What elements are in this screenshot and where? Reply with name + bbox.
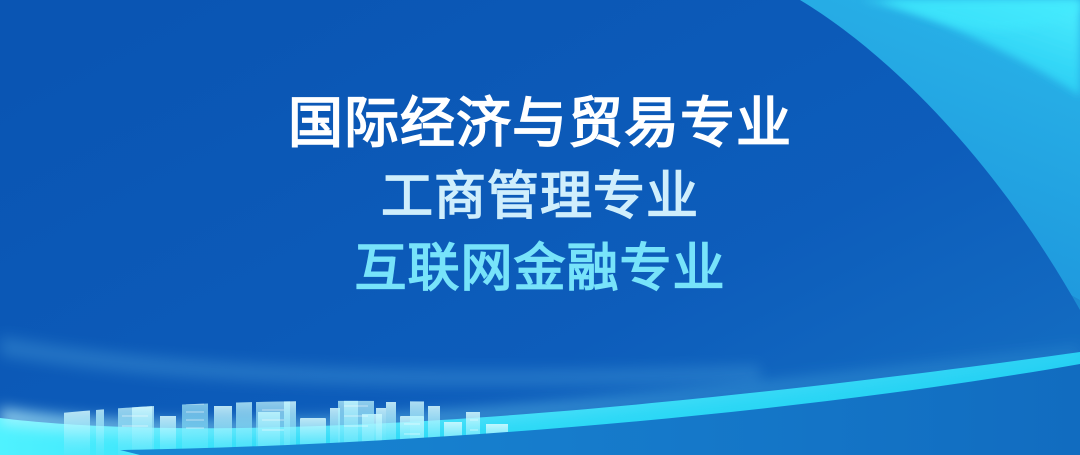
promo-banner: 国际经济与贸易专业 工商管理专业 互联网金融专业: [0, 0, 1080, 455]
title-line-international-trade: 国际经济与贸易专业: [288, 96, 792, 151]
title-line-business-administration: 工商管理专业: [381, 171, 699, 223]
title-line-internet-finance: 互联网金融专业: [354, 243, 725, 295]
title-block: 国际经济与贸易专业 工商管理专业 互联网金融专业: [0, 0, 1080, 455]
